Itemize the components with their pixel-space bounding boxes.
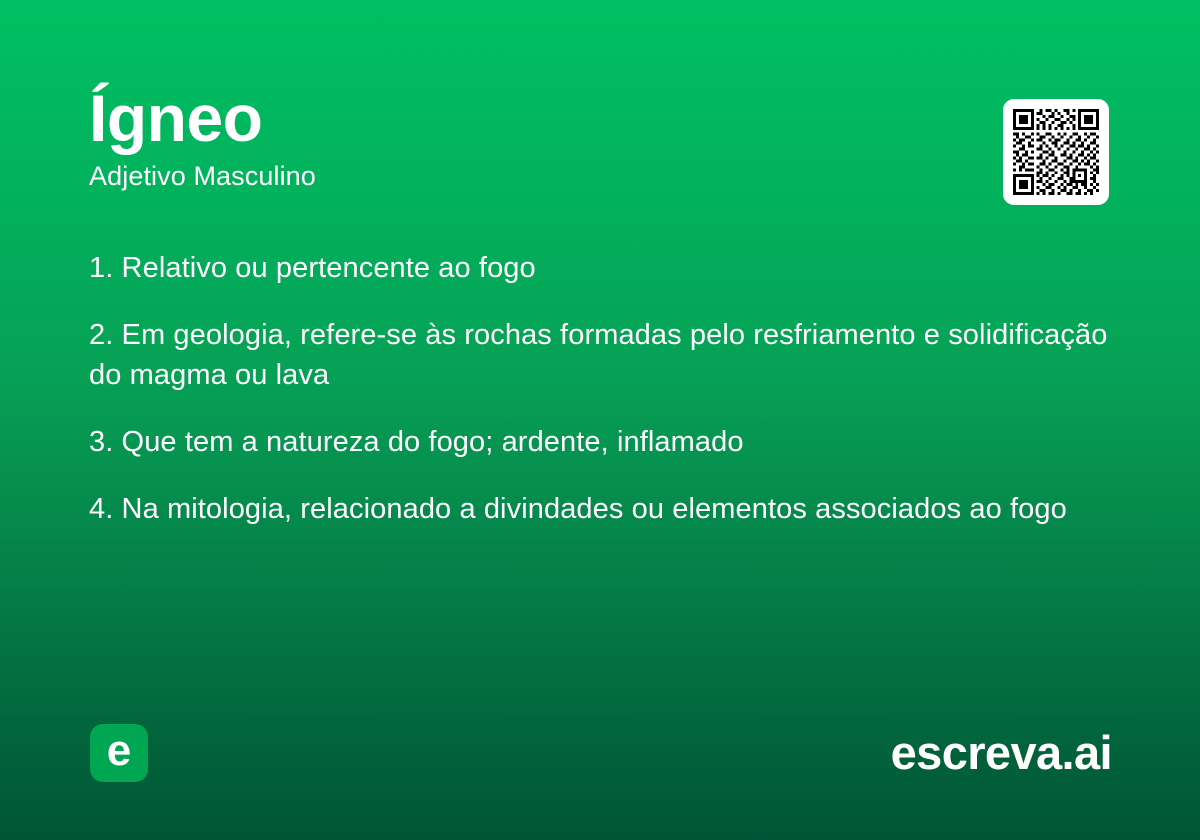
qr-code-icon	[1013, 109, 1099, 195]
qr-code-card[interactable]	[1003, 99, 1109, 205]
dictionary-card: Ígneo Adjetivo Masculino	[0, 0, 1200, 840]
word-class-label: Adjetivo Masculino	[89, 160, 969, 192]
page-title: Ígneo	[89, 82, 969, 154]
card-header: Ígneo Adjetivo Masculino	[89, 82, 969, 192]
definition-item: 1. Relativo ou pertencente ao fogo	[89, 248, 1109, 288]
definition-item: 2. Em geologia, refere-se às rochas form…	[89, 315, 1109, 395]
definition-item: 4. Na mitologia, relacionado a divindade…	[89, 489, 1109, 529]
logo-letter: e	[107, 729, 131, 773]
escreva-logo-icon[interactable]: e	[90, 724, 148, 782]
definitions-list: 1. Relativo ou pertencente ao fogo 2. Em…	[89, 248, 1109, 529]
definition-item: 3. Que tem a natureza do fogo; ardente, …	[89, 422, 1109, 462]
brand-wordmark[interactable]: escreva.ai	[891, 724, 1112, 782]
